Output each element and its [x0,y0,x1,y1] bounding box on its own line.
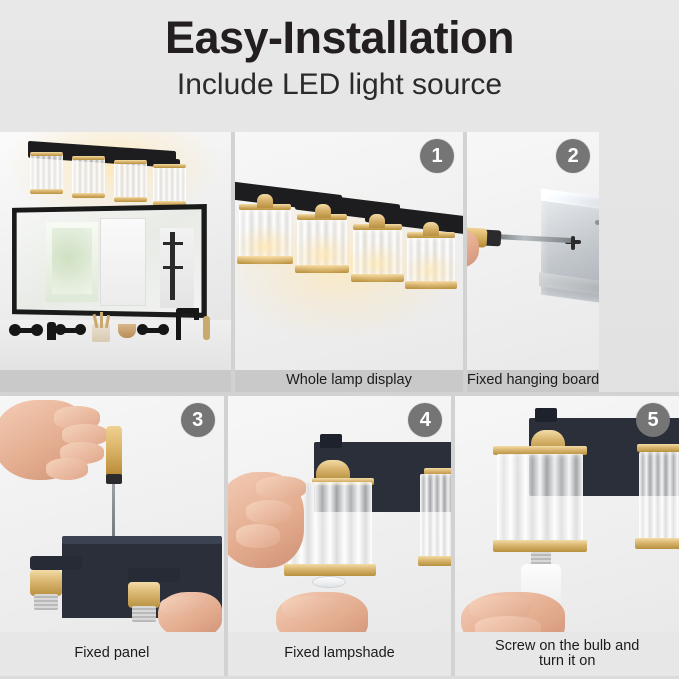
steps-grid: 1 [0,132,679,676]
step-badge-2: 2 [556,139,590,173]
caption-step-4: Fixed lampshade [228,632,452,676]
photo-bathroom-vanity [0,132,231,370]
step-badge-5: 5 [636,403,670,437]
caption-step-3: Fixed panel [0,632,224,676]
step-card-1: 1 [235,132,463,392]
photo-screw-bulb: 5 [455,396,679,632]
caption-step-2: Fixed hanging board [467,370,599,392]
step-badge-1: 1 [420,139,454,173]
steps-row-1: 1 [0,132,679,392]
page-subtitle: Include LED light source [177,69,502,101]
caption-hero [0,370,231,392]
step-card-hero [0,132,231,392]
infographic-page: Easy-Installation Include LED light sour… [0,0,679,679]
photo-fixed-lampshade: 4 [228,396,452,632]
caption-step-5-line2: turn it on [539,654,595,669]
photo-fixed-panel: 3 [0,396,224,632]
page-title: Easy-Installation [165,14,514,61]
step-card-2: 2 [467,132,599,392]
header: Easy-Installation Include LED light sour… [0,0,679,132]
steps-row-2: 3 [0,396,679,676]
photo-hanging-board: 2 [467,132,599,370]
caption-step-5: Screw on the bulb and turn it on [455,632,679,676]
step-card-3: 3 [0,396,224,676]
step-badge-3: 3 [181,403,215,437]
step-card-4: 4 [228,396,452,676]
photo-whole-lamp: 1 [235,132,463,370]
caption-step-1: Whole lamp display [235,370,463,392]
step-card-5: 5 [455,396,679,676]
